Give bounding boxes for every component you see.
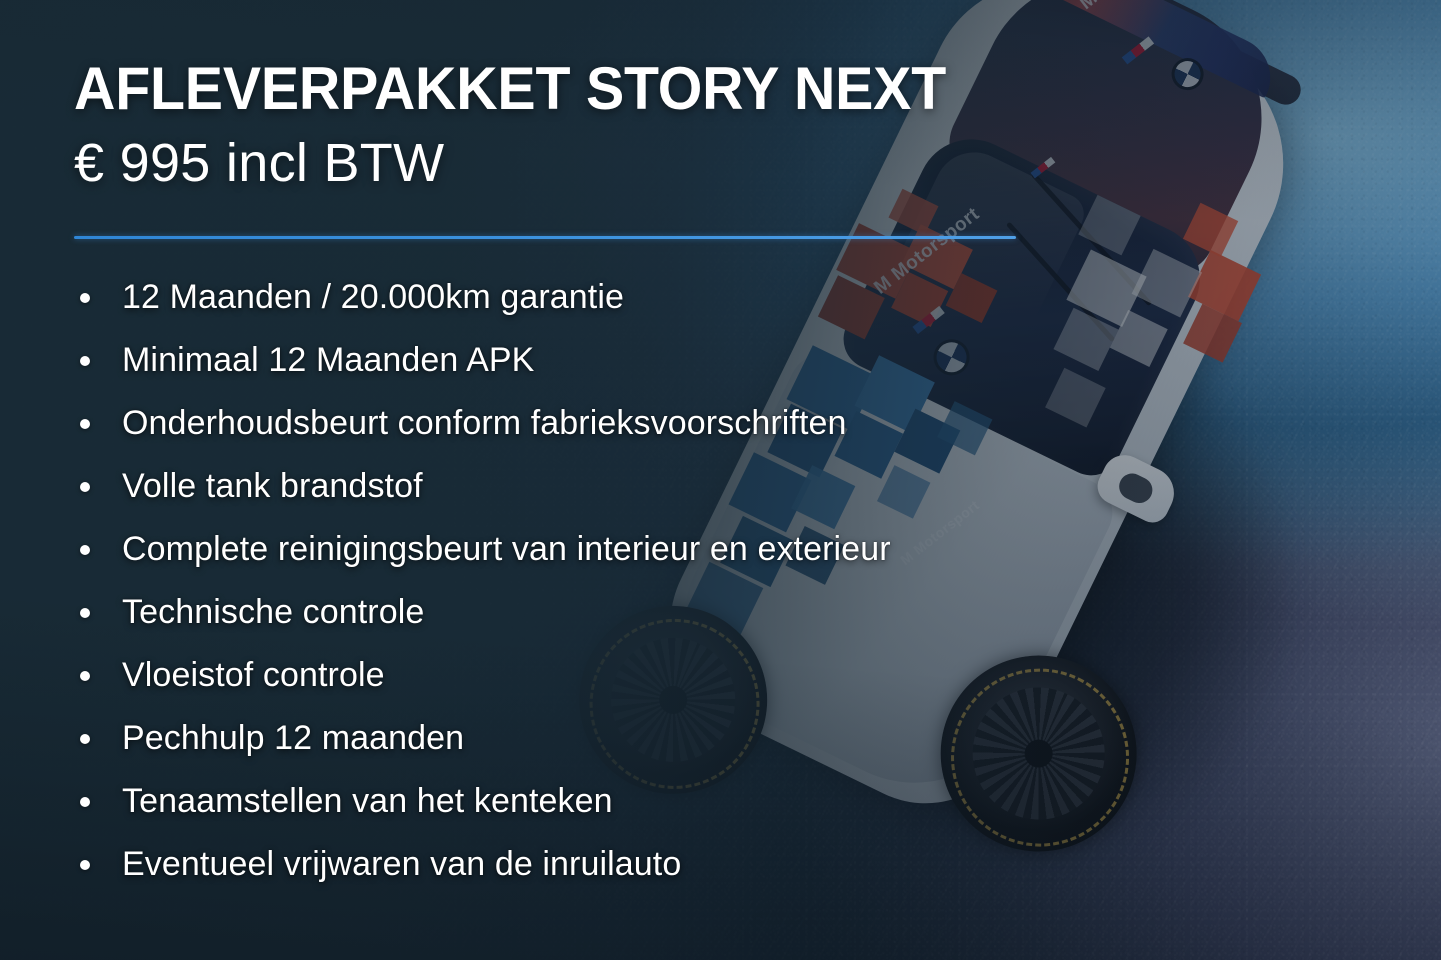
bullet-dot-icon [80, 545, 90, 555]
list-item-label: Volle tank brandstof [122, 467, 423, 506]
list-item-label: Eventueel vrijwaren van de inruilauto [122, 845, 681, 884]
banner-content: AFLEVERPAKKET STORY NEXT € 995 incl BTW … [0, 0, 1441, 960]
bullet-dot-icon [80, 419, 90, 429]
bullet-dot-icon [80, 293, 90, 303]
bullet-dot-icon [80, 608, 90, 618]
bullet-dot-icon [80, 860, 90, 870]
bullet-dot-icon [80, 734, 90, 744]
banner-title: AFLEVERPAKKET STORY NEXT [74, 58, 946, 120]
banner-price: € 995 incl BTW [74, 135, 444, 192]
list-item-label: Vloeistof controle [122, 656, 385, 695]
list-item: Complete reinigingsbeurt van interieur e… [74, 518, 1174, 581]
list-item: Eventueel vrijwaren van de inruilauto [74, 833, 1174, 896]
list-item-label: Complete reinigingsbeurt van interieur e… [122, 530, 891, 569]
bullet-dot-icon [80, 482, 90, 492]
title-divider [74, 236, 1016, 239]
list-item: 12 Maanden / 20.000km garantie [74, 266, 1174, 329]
feature-list: 12 Maanden / 20.000km garantieMinimaal 1… [74, 266, 1174, 896]
list-item: Tenaamstellen van het kenteken [74, 770, 1174, 833]
list-item: Technische controle [74, 581, 1174, 644]
list-item-label: Onderhoudsbeurt conform fabrieksvoorschr… [122, 404, 847, 443]
list-item-label: Technische controle [122, 593, 424, 632]
list-item-label: Minimaal 12 Maanden APK [122, 341, 534, 380]
list-item: Onderhoudsbeurt conform fabrieksvoorschr… [74, 392, 1174, 455]
bullet-dot-icon [80, 671, 90, 681]
list-item-label: Pechhulp 12 maanden [122, 719, 464, 758]
list-item-label: 12 Maanden / 20.000km garantie [122, 278, 624, 317]
afleverpakket-promo-banner: M Motorsport M Motorsport M Motorsport A… [0, 0, 1441, 960]
list-item: Volle tank brandstof [74, 455, 1174, 518]
list-item: Pechhulp 12 maanden [74, 707, 1174, 770]
bullet-dot-icon [80, 356, 90, 366]
list-item: Minimaal 12 Maanden APK [74, 329, 1174, 392]
list-item: Vloeistof controle [74, 644, 1174, 707]
bullet-dot-icon [80, 797, 90, 807]
list-item-label: Tenaamstellen van het kenteken [122, 782, 613, 821]
